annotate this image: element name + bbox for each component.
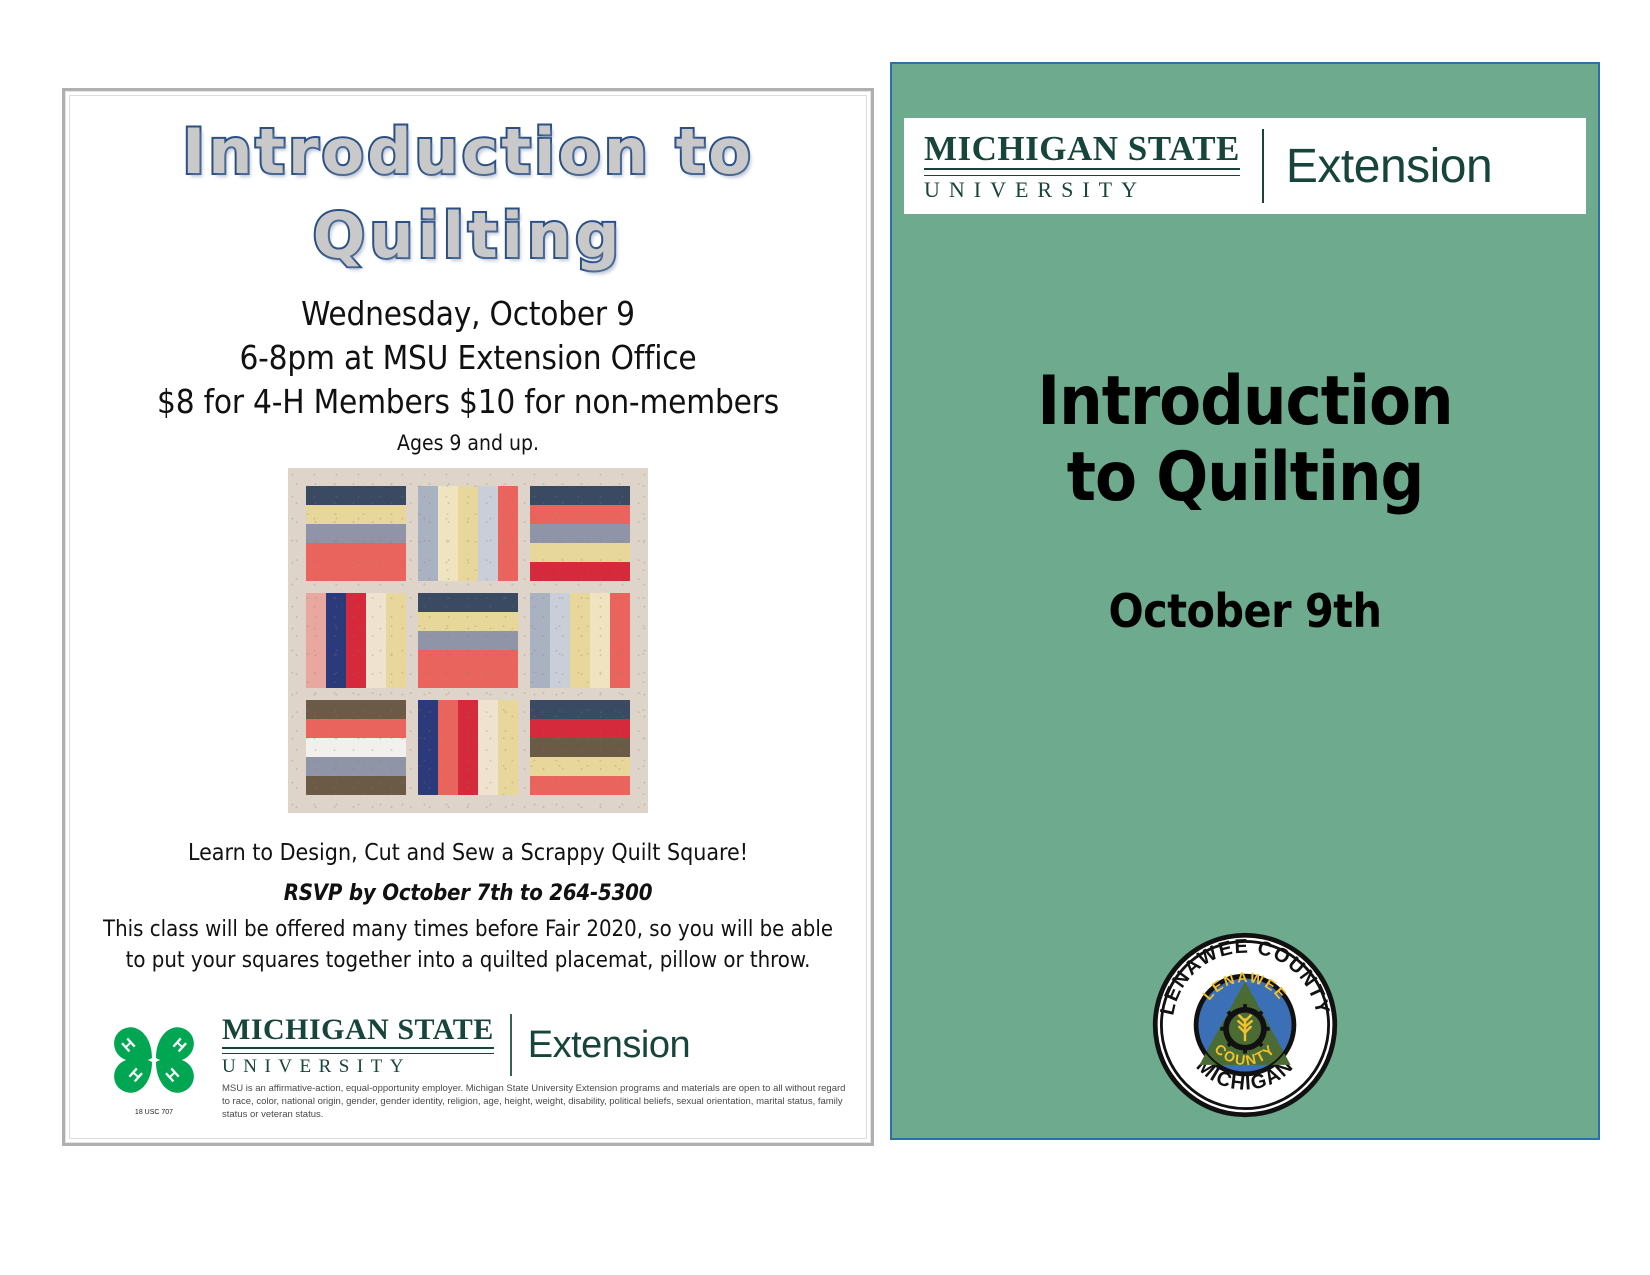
flyer-detail-price: $8 for 4-H Members $10 for non-members: [70, 380, 866, 424]
quilt-texture-overlay: [288, 468, 648, 813]
msu-extension-logo: MICHIGAN STATE UNIVERSITY Extension: [222, 1014, 842, 1076]
flyer-details: Wednesday, October 9 6-8pm at MSU Extens…: [70, 292, 866, 460]
panel-title: Introduction to Quilting: [912, 364, 1578, 516]
flyer-page: Introduction to Quilting Wednesday, Octo…: [0, 0, 1650, 1275]
msu-line-2: UNIVERSITY: [222, 1053, 494, 1076]
lenawee-county-seal-icon: LENAWEE COUNTY MICHIGAN LENAWEE COUNTY: [1150, 930, 1340, 1120]
panel-msu-extension-logo: MICHIGAN STATE UNIVERSITY Extension: [904, 118, 1586, 214]
panel-title-line1: Introduction: [912, 364, 1578, 440]
panel-msu-divider: [1262, 129, 1264, 203]
four-h-clover-icon: H H H H 18 USC 707: [100, 1006, 208, 1118]
legal-disclaimer: MSU is an affirmative-action, equal-oppo…: [222, 1082, 846, 1121]
panel-msu-line-1: MICHIGAN STATE: [924, 131, 1240, 170]
flyer-caption-learn: Learn to Design, Cut and Sew a Scrappy Q…: [70, 840, 866, 866]
flyer-title: Introduction to Quilting: [70, 110, 866, 279]
msu-line-1: MICHIGAN STATE: [222, 1015, 494, 1049]
panel-subtitle-date: October 9th: [912, 584, 1578, 638]
flyer-detail-ages: Ages 9 and up.: [70, 427, 866, 461]
clover-usc-note: 18 USC 707: [135, 1109, 173, 1116]
panel-title-line2: to Quilting: [912, 440, 1578, 516]
flyer-title-line1: Introduction to: [70, 110, 866, 194]
flyer-inner-border: Introduction to Quilting Wednesday, Octo…: [69, 95, 867, 1139]
msu-extension-word: Extension: [528, 1024, 690, 1067]
panel-msu-extension-word: Extension: [1286, 139, 1492, 194]
green-promo-panel: MICHIGAN STATE UNIVERSITY Extension Intr…: [890, 62, 1600, 1140]
printed-flyer: Introduction to Quilting Wednesday, Octo…: [62, 88, 874, 1146]
flyer-footer: H H H H 18 USC 707 MICHIGAN STATE UNIVER…: [94, 1002, 846, 1128]
msu-wordmark: MICHIGAN STATE UNIVERSITY: [222, 1015, 494, 1076]
flyer-caption-rsvp: RSVP by October 7th to 264-5300: [70, 881, 866, 906]
flyer-caption-note: This class will be offered many times be…: [70, 914, 866, 976]
panel-msu-wordmark: MICHIGAN STATE UNIVERSITY: [924, 131, 1240, 201]
msu-divider: [510, 1014, 512, 1076]
flyer-title-line2: Quilting: [70, 194, 866, 278]
flyer-detail-time-location: 6-8pm at MSU Extension Office: [70, 336, 866, 380]
quilt-photo: [288, 468, 648, 813]
flyer-detail-date: Wednesday, October 9: [70, 292, 866, 336]
panel-msu-line-2: UNIVERSITY: [924, 175, 1240, 201]
